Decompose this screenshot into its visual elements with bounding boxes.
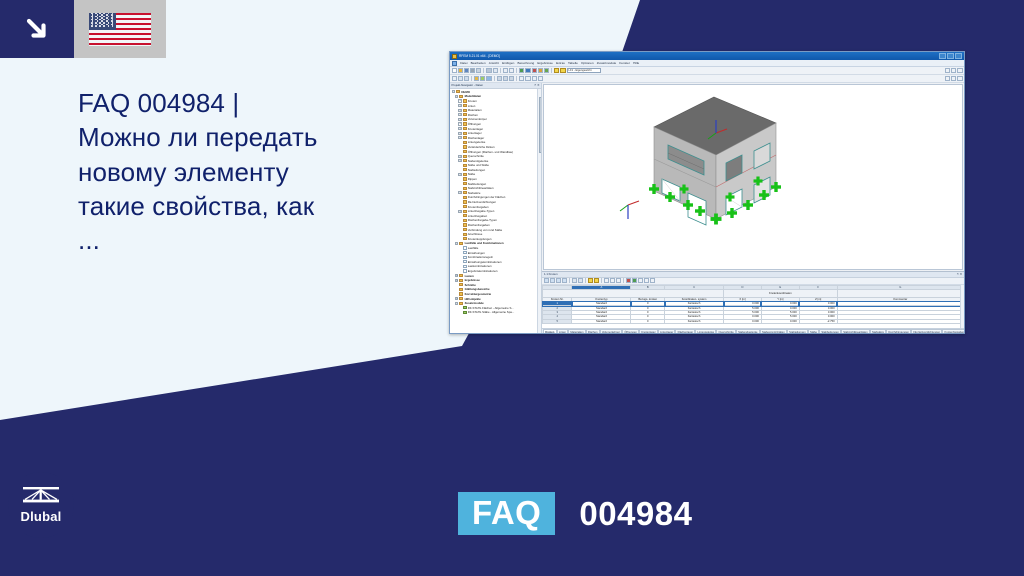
project-navigator[interactable]: Projekt-Navigator - Daten ⨯ ✕ -DEMO-Mode…	[450, 83, 542, 335]
document-icon	[463, 246, 467, 249]
tree-item-label: RF-STAHL Stäbe - Allgemeine Spa...	[468, 310, 514, 314]
tree-item-label: DEMO	[461, 90, 470, 94]
collapse-icon[interactable]: -	[455, 242, 458, 245]
folder-icon	[459, 242, 463, 245]
zoom-in-icon[interactable]	[525, 68, 530, 73]
headline-line-3: новому элементу	[78, 157, 289, 187]
tree-spacer	[458, 311, 461, 314]
tree-spacer	[458, 237, 461, 240]
sheet-tab[interactable]: Stäbe	[808, 329, 819, 334]
toolbar-separator	[494, 76, 495, 81]
tree-item-label: Volumenkörper	[468, 117, 487, 121]
cell-y[interactable]: 0.000	[761, 319, 799, 323]
tree-item-label: Kombinationsregeln	[468, 255, 493, 259]
tree-spacer	[458, 187, 461, 190]
tree-item-label: Einwirkungskombinationen	[468, 260, 502, 264]
menu-item-ansicht[interactable]: Ansicht	[489, 61, 499, 65]
corner-arrow-badge[interactable]	[0, 0, 74, 58]
tree-item-label: Stabsätze	[468, 191, 481, 195]
building-model[interactable]	[596, 93, 836, 243]
flag-canton	[89, 13, 116, 31]
hinge-icon[interactable]	[503, 76, 508, 81]
node-table[interactable]: ABCDEFGKnotenkoordinatenKnoten Nr.Knoten…	[542, 285, 964, 324]
table-scrollbar-vertical[interactable]	[960, 285, 964, 328]
window-titlebar[interactable]: RFEM 5.21.01 x64 - [DEMO]	[450, 52, 964, 60]
folder-icon	[459, 292, 463, 295]
toolbar-separator	[500, 68, 501, 73]
tree-spacer	[458, 177, 461, 180]
folder-icon	[463, 168, 467, 171]
table-clear-icon[interactable]	[626, 278, 631, 283]
line-icon[interactable]	[464, 76, 469, 81]
document-icon	[463, 260, 467, 263]
folder-icon	[463, 228, 467, 231]
folder-icon	[463, 132, 467, 135]
tree-spacer	[458, 214, 461, 217]
tree-item-label: Lastfälle	[468, 246, 479, 250]
tree-item-label: Linien	[468, 104, 476, 108]
tree-item-label: Rippen	[468, 177, 477, 181]
expand-icon[interactable]: +	[458, 132, 461, 135]
table-export-icon[interactable]	[616, 278, 621, 283]
window-controls[interactable]	[939, 53, 962, 59]
tree-spacer	[458, 246, 461, 249]
menu-item-zusatzmodule[interactable]: Zusatzmodule	[597, 61, 616, 65]
loadcase-prev-icon[interactable]	[554, 68, 559, 73]
axis-triad-origin	[620, 201, 639, 219]
menu-item-bearbeiten[interactable]: Bearbeiten	[471, 61, 486, 65]
folder-icon	[463, 219, 467, 222]
navigator-tree[interactable]: -DEMO-Modelldaten+Knoten+Linien+Material…	[450, 89, 541, 335]
expand-icon[interactable]: +	[458, 210, 461, 213]
page-title: FAQ 004984 | Можно ли передать новому эл…	[78, 86, 433, 258]
toolbar-separator	[483, 68, 484, 73]
tree-item-label: Korrekturgeometrie	[465, 292, 492, 296]
sheet-tab[interactable]: Knotenfreigaben	[942, 329, 964, 334]
sheet-tab[interactable]: Materialien	[568, 329, 586, 334]
tree-item-label: Schnitte	[465, 283, 476, 287]
collapse-icon[interactable]: -	[455, 95, 458, 98]
tree-item-label: Einwirkungen	[468, 251, 485, 255]
table-title: 1.1 Knoten	[544, 272, 558, 276]
sheet-tab[interactable]: Liniengelenke	[695, 329, 716, 334]
folder-icon	[463, 159, 467, 162]
sheet-tab[interactable]: FE-Netzverdichtungen	[911, 329, 942, 334]
expand-icon[interactable]: +	[458, 99, 461, 102]
building-model-svg	[596, 93, 836, 243]
folder-icon	[463, 191, 467, 194]
tree-spacer	[458, 233, 461, 236]
tree-spacer	[458, 260, 461, 263]
tree-item-label: Ergebnisse	[465, 278, 480, 282]
tree-spacer	[458, 228, 461, 231]
collapse-icon[interactable]: -	[455, 302, 458, 305]
expand-icon[interactable]: +	[458, 136, 461, 139]
folder-icon	[463, 173, 467, 176]
table-print-icon[interactable]	[638, 278, 643, 283]
cell-kommentar[interactable]	[837, 319, 963, 323]
toolbar-separator	[601, 278, 602, 283]
tree-spacer	[458, 164, 461, 167]
model-viewport[interactable]	[543, 84, 963, 270]
table-nav-first-icon[interactable]	[544, 278, 549, 283]
folder-icon	[463, 150, 467, 153]
window-title: RFEM 5.21.01 x64 - [DEMO]	[459, 54, 939, 58]
menu-item-ergebnisse[interactable]: Ergebnisse	[537, 61, 552, 65]
toolbar-separator	[471, 76, 472, 81]
folder-icon	[459, 274, 463, 277]
folder-icon	[463, 104, 467, 107]
navigator-close-icon[interactable]: ⨯ ✕	[534, 83, 539, 87]
tree-item-label: Glättungsbereiche	[465, 287, 490, 291]
new-icon[interactable]	[452, 68, 457, 73]
tree-item-label: Lastkombinationen	[468, 264, 492, 268]
tree-item-label: Stabbettungen	[468, 182, 487, 186]
expand-icon[interactable]: +	[455, 274, 458, 277]
toolbar-separator	[569, 278, 570, 283]
sheet-tab[interactable]: Stabexzentrizitäten	[760, 329, 787, 334]
secondary-toolbar[interactable]	[450, 75, 964, 83]
cell-z[interactable]: -2.750	[799, 319, 837, 323]
sheet-tab[interactable]: Querschnitte	[716, 329, 736, 334]
folder-icon	[463, 99, 467, 102]
tree-spacer	[458, 200, 461, 203]
tree-spacer	[458, 150, 461, 153]
tree-item-label: Linienlager	[468, 131, 482, 135]
tree-item-label: Stabendgelenke	[468, 159, 489, 163]
tree-item-label: Verbindung von rund Stäbe	[468, 228, 502, 232]
tree-item-label: Linienfreigaben	[468, 214, 487, 218]
tree-item-label: Flächenfreigaben	[468, 223, 490, 227]
folder-icon	[463, 122, 467, 125]
cell-knotentyp[interactable]: Standard	[572, 319, 631, 323]
table-group-header-row: Knotenkoordinaten	[543, 290, 964, 298]
headline-line-4: такие свойства, как	[78, 191, 314, 221]
view-top-icon[interactable]	[957, 76, 962, 81]
toolbar-separator	[551, 68, 552, 73]
tree-item-label: Linienfreigabe-Typen	[468, 209, 495, 213]
tree-item-label: Hilfsobjekte	[465, 297, 481, 301]
result-icon[interactable]	[525, 76, 530, 81]
workspace: 1.1 Knoten ⨯ ✕	[542, 83, 964, 335]
table-delete-row-icon[interactable]	[578, 278, 583, 283]
folder-icon	[463, 205, 467, 208]
folder-icon	[463, 118, 467, 121]
tree-item-label: RF-STAHL Flächen - Allgemeine S...	[468, 306, 514, 310]
table-help-icon[interactable]	[650, 278, 655, 283]
table-group-blank	[543, 290, 724, 298]
node-table-grid[interactable]: ABCDEFGKnotenkoordinatenKnoten Nr.Knoten…	[542, 285, 964, 328]
minimize-button[interactable]	[939, 53, 946, 59]
menu-item-optionen[interactable]: Optionen	[581, 61, 594, 65]
tree-item-label: Lastfälle und Kombinationen	[465, 241, 504, 245]
tree-item-label: Stabteilungen	[468, 168, 485, 172]
mesh-icon[interactable]	[519, 76, 524, 81]
rfem-app-icon	[452, 54, 457, 59]
main-toolbar[interactable]: LF1 - Eigengewicht	[450, 67, 964, 75]
expand-icon[interactable]: +	[458, 122, 461, 125]
tree-spacer	[458, 205, 461, 208]
cut-icon[interactable]	[486, 68, 491, 73]
tree-item-label: Querschnitte	[468, 154, 484, 158]
folder-icon	[463, 113, 467, 116]
copy-icon[interactable]	[493, 68, 498, 73]
sheet-tab[interactable]: Flächen	[586, 329, 600, 334]
sheet-tab[interactable]: Linienlager	[658, 329, 676, 334]
tree-item-label: Ergebniskombinationen	[468, 269, 498, 273]
sheet-tab[interactable]: Stabsätze	[870, 329, 886, 334]
tree-item-label: Knoten	[468, 99, 477, 103]
sheet-tab[interactable]: Stabnichtlinearitäten	[841, 329, 870, 334]
folder-icon	[459, 279, 463, 282]
dlubal-truss-icon	[22, 486, 60, 508]
tree-item-label: Knotenfreigaben	[468, 205, 489, 209]
sheet-tab[interactable]: Knoten	[543, 329, 557, 334]
tree-spacer	[458, 265, 461, 268]
loadcase-select[interactable]: LF1 - Eigengewicht	[567, 68, 601, 73]
opening-icon[interactable]	[486, 76, 491, 81]
menu-item-extras[interactable]: Extras	[556, 61, 565, 65]
table-loadcase-next-icon[interactable]	[594, 278, 599, 283]
table-insert-row-icon[interactable]	[572, 278, 577, 283]
tree-spacer	[458, 269, 461, 272]
table-group-header: Knotenkoordinaten	[724, 290, 838, 298]
toolbar-separator	[516, 68, 517, 73]
tree-item-label: Öffnungen (Flächen- und Wandbau)	[468, 150, 513, 154]
rfem-application-window[interactable]: RFEM 5.21.01 x64 - [DEMO] Datei Bearbeit…	[449, 51, 965, 334]
tree-item-label: Knotenkopplungen	[468, 237, 492, 241]
tree-item-label: FE-Netzverdichtungen	[468, 200, 496, 204]
tree-spacer	[458, 145, 461, 148]
row-number[interactable]: 5	[543, 319, 572, 323]
expand-icon[interactable]: +	[458, 191, 461, 194]
table-loadcase-icon[interactable]	[588, 278, 593, 283]
tree-item-label: Stäbe	[468, 172, 475, 176]
headline-line-1: FAQ 004984 |	[78, 88, 239, 118]
maximize-button[interactable]	[947, 53, 954, 59]
menu-item-berechnung[interactable]: Berechnung	[518, 61, 535, 65]
expand-icon[interactable]: +	[458, 113, 461, 116]
sheet-tab[interactable]: Stabbettungen	[819, 329, 841, 334]
folder-icon	[463, 109, 467, 112]
open-icon[interactable]	[458, 68, 463, 73]
tree-spacer	[458, 196, 461, 199]
table-filter-icon[interactable]	[604, 278, 609, 283]
expand-icon[interactable]: +	[458, 118, 461, 121]
dlubal-logo[interactable]: Dlubal	[8, 472, 74, 538]
folder-icon	[463, 136, 467, 139]
load-icon[interactable]	[509, 76, 514, 81]
table-sort-icon[interactable]	[610, 278, 615, 283]
toolbar-separator	[516, 76, 517, 81]
table-toolbar[interactable]	[542, 278, 964, 286]
table-nav-prev-icon[interactable]	[550, 278, 555, 283]
folder-icon	[463, 177, 467, 180]
table-apply-icon[interactable]	[632, 278, 637, 283]
module-icon	[463, 306, 467, 309]
tree-item-label: Flächen	[468, 113, 478, 117]
sheet-tab[interactable]: Volumenkörper	[600, 329, 622, 334]
folder-icon	[459, 283, 463, 286]
node-icon[interactable]	[458, 76, 463, 81]
tree-item-label: Zusatzmodule	[465, 301, 484, 305]
folder-icon	[456, 90, 460, 93]
loadcase-next-icon[interactable]	[560, 68, 565, 73]
document-icon	[463, 265, 467, 268]
render-icon[interactable]	[544, 68, 549, 73]
tree-spacer	[458, 306, 461, 309]
tree-item-label: Materialien	[468, 108, 482, 112]
folder-icon	[463, 182, 467, 185]
section-icon[interactable]	[532, 76, 537, 81]
menu-item-einfuegen[interactable]: Einfügen	[502, 61, 514, 65]
tree-spacer	[455, 283, 458, 286]
tree-spacer	[458, 251, 461, 254]
tree-item-label: Modelldaten	[465, 94, 482, 98]
folder-icon	[463, 210, 467, 213]
support-icon[interactable]	[497, 76, 502, 81]
table-group-blank-2	[837, 290, 963, 298]
document-icon	[463, 251, 467, 254]
expand-icon[interactable]: +	[458, 173, 461, 176]
solid-icon[interactable]	[480, 76, 485, 81]
expand-icon[interactable]: +	[458, 127, 461, 130]
expand-icon[interactable]: +	[458, 104, 461, 107]
expand-icon[interactable]: +	[458, 109, 461, 112]
folder-icon	[463, 223, 467, 226]
close-button[interactable]	[955, 53, 962, 59]
expand-icon[interactable]: +	[458, 159, 461, 162]
folder-icon	[459, 288, 463, 291]
window-body: Projekt-Navigator - Daten ⨯ ✕ -DEMO-Mode…	[450, 83, 964, 335]
folder-icon	[459, 297, 463, 300]
tree-item-label: Stabnichtlinearitäten	[468, 186, 494, 190]
cell-koordinatensystem[interactable]: Kartesisch	[665, 319, 724, 323]
help-icon[interactable]	[945, 68, 950, 73]
table-row[interactable]: 5Standard0Kartesisch0.0000.000-2.750	[543, 319, 964, 323]
sheet-tab[interactable]: Durchdringungen	[886, 329, 911, 334]
undo-icon[interactable]	[509, 68, 514, 73]
folder-icon	[463, 196, 467, 199]
tree-item-label: Anschlüsse	[468, 232, 483, 236]
toolbar-separator	[585, 278, 586, 283]
view-iso-icon[interactable]	[945, 76, 950, 81]
headline-ellipsis: ...	[78, 223, 433, 257]
table-sheet-tabs[interactable]: KnotenLinienMaterialienFlächenVolumenkör…	[542, 328, 964, 335]
settings-icon[interactable]	[957, 68, 962, 73]
tree-spacer	[458, 168, 461, 171]
tree-spacer	[458, 219, 461, 222]
tree-item-label: Veränderliche Dicken	[468, 145, 495, 149]
tree-spacer	[458, 256, 461, 259]
folder-icon	[459, 95, 463, 98]
scrollbar-thumb[interactable]	[539, 97, 542, 153]
table-panel[interactable]: 1.1 Knoten ⨯ ✕	[542, 271, 964, 335]
select-icon[interactable]	[452, 76, 457, 81]
zoom-out-icon[interactable]	[532, 68, 537, 73]
tree-item-label: Liniengelenke	[468, 140, 486, 144]
menu-item-fenster[interactable]: Fenster	[619, 61, 630, 65]
print-icon[interactable]	[470, 68, 475, 73]
menubar[interactable]: Datei Bearbeiten Ansicht Einfügen Berech…	[450, 60, 964, 67]
toolbar-separator	[623, 278, 624, 283]
menu-item-tabelle[interactable]: Tabelle	[568, 61, 578, 65]
tree-spacer	[458, 182, 461, 185]
tree-item-label: Knotenlager	[468, 127, 483, 131]
cell-x[interactable]: 0.000	[724, 319, 762, 323]
tree-spacer	[455, 288, 458, 291]
sheet-tab[interactable]: Stabendgelenke	[736, 329, 760, 334]
folder-icon	[463, 200, 467, 203]
tree-item-label: Lasten	[465, 274, 474, 278]
expand-icon[interactable]: +	[455, 279, 458, 282]
tree-spacer	[458, 141, 461, 144]
sheet-tab[interactable]: Öffnungen	[622, 329, 639, 334]
save-icon[interactable]	[464, 68, 469, 73]
tree-item-label: Stäbe und Stäbe	[468, 163, 489, 167]
view-front-icon[interactable]	[951, 76, 956, 81]
folder-icon	[463, 145, 467, 148]
faq-number: 004984	[579, 497, 692, 530]
table-window-controls[interactable]: ⨯ ✕	[957, 272, 962, 276]
tree-item-label: Flächenlager	[468, 136, 484, 140]
table-nav-last-icon[interactable]	[562, 278, 567, 283]
measure-icon[interactable]	[538, 76, 543, 81]
menu-item-hilfe[interactable]: Hilfe	[633, 61, 639, 65]
sheet-tab[interactable]: Knotenlager	[639, 329, 658, 334]
folder-icon	[463, 127, 467, 130]
expand-icon[interactable]: +	[458, 155, 461, 158]
document-icon	[463, 256, 467, 259]
table-settings-icon[interactable]	[644, 278, 649, 283]
info-icon[interactable]	[951, 68, 956, 73]
tree-item[interactable]: RF-STAHL Stäbe - Allgemeine Spa...	[451, 310, 541, 315]
calculate-icon[interactable]	[519, 68, 524, 73]
print-preview-icon[interactable]	[476, 68, 481, 73]
tree-item-label: Öffnungen	[468, 122, 481, 126]
paste-icon[interactable]	[503, 68, 508, 73]
folder-icon	[463, 214, 467, 217]
language-flag-button[interactable]	[74, 0, 166, 58]
sheet-tab[interactable]: Stabteilungen	[787, 329, 808, 334]
folder-icon	[459, 302, 463, 305]
folder-icon	[463, 237, 467, 240]
surface-icon[interactable]	[474, 76, 479, 81]
arrow-down-right-icon	[22, 14, 52, 44]
table-nav-next-icon[interactable]	[556, 278, 561, 283]
headline-line-2: Можно ли передать	[78, 122, 318, 152]
expand-icon[interactable]: +	[455, 297, 458, 300]
folder-icon	[463, 164, 467, 167]
zoom-window-icon[interactable]	[538, 68, 543, 73]
navigator-title: Projekt-Navigator - Daten	[452, 83, 484, 87]
sheet-tab[interactable]: Flächenlager	[675, 329, 695, 334]
collapse-icon[interactable]: -	[452, 90, 455, 93]
navigator-scrollbar[interactable]	[537, 89, 541, 335]
us-flag-icon	[89, 13, 151, 46]
document-icon	[452, 61, 457, 66]
folder-icon	[463, 155, 467, 158]
tree-spacer	[455, 292, 458, 295]
logo-wordmark: Dlubal	[21, 509, 62, 524]
cell-bezugsknoten[interactable]: 0	[631, 319, 665, 323]
menu-item-datei[interactable]: Datei	[460, 61, 467, 65]
folder-icon	[463, 187, 467, 190]
faq-footer: FAQ 004984	[458, 492, 692, 535]
folder-icon	[463, 233, 467, 236]
tree-item-label: Flächenfreigabe-Typen	[468, 218, 497, 222]
sheet-tab[interactable]: Linien	[557, 329, 569, 334]
